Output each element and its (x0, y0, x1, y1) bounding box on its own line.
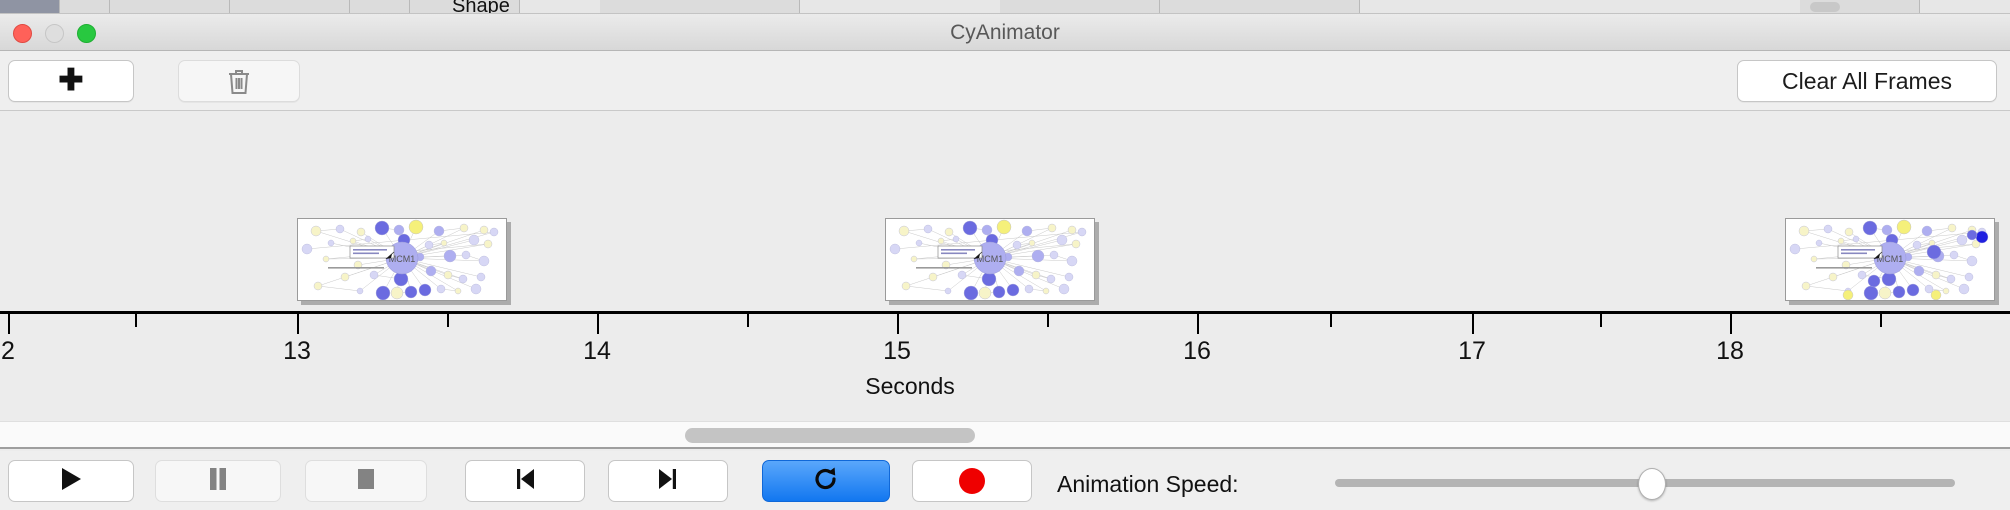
plus-icon: ✚ (58, 66, 83, 96)
cyanimator-window: Shape CyAnimator ✚ Clear All Frames (0, 0, 2010, 510)
clear-all-frames-button[interactable]: Clear All Frames (1737, 60, 1997, 102)
axis-tick-minor (1880, 314, 1882, 327)
timeline-scrollbar[interactable] (0, 421, 2010, 449)
animation-speed-thumb[interactable] (1638, 468, 1666, 500)
stop-button[interactable] (305, 460, 427, 502)
skip-back-icon (513, 466, 537, 496)
loop-icon (812, 465, 840, 497)
axis-tick-minor (135, 314, 137, 327)
bg-scroll-nub (1810, 2, 1840, 12)
background-shape-label: Shape (452, 0, 510, 14)
record-icon (959, 468, 985, 494)
time-axis: 2131415161718 Seconds (0, 311, 2010, 421)
timeline-frame-thumbnail[interactable]: MCM1 (1785, 218, 1995, 301)
trash-icon (227, 68, 251, 95)
delete-frame-button[interactable] (178, 60, 300, 102)
axis-tick-label: 15 (883, 337, 911, 366)
timeline-frame-thumbnail[interactable]: MCM1 (297, 218, 507, 301)
axis-tick-minor (1330, 314, 1332, 327)
axis-tick-major (897, 314, 899, 334)
axis-tick-minor (1047, 314, 1049, 327)
timeline-frame-thumbnail[interactable]: MCM1 (885, 218, 1095, 301)
axis-tick-minor (447, 314, 449, 327)
axis-tick-major (297, 314, 299, 334)
skip-forward-icon (656, 466, 680, 496)
toolbar: ✚ Clear All Frames (0, 51, 2010, 111)
bg-segment (60, 0, 110, 14)
skip-end-button[interactable] (608, 460, 728, 502)
axis-tick-major (1197, 314, 1199, 334)
axis-title: Seconds (865, 373, 955, 400)
bg-segment (230, 0, 350, 14)
axis-tick-major (8, 314, 10, 334)
axis-tick-label: 16 (1183, 337, 1211, 366)
skip-start-button[interactable] (465, 460, 585, 502)
add-frame-button[interactable]: ✚ (8, 60, 134, 102)
frames-strip: MCM1MCM1MCM1 (0, 111, 2010, 311)
axis-tick-label: 18 (1716, 337, 1744, 366)
stop-icon (354, 466, 378, 496)
timeline-panel: MCM1MCM1MCM1 2131415161718 Seconds (0, 111, 2010, 421)
bg-segment (0, 0, 60, 14)
axis-line (0, 311, 2010, 314)
playback-controls: Animation Speed: (0, 451, 2010, 510)
bg-segment (350, 0, 410, 14)
play-icon (59, 466, 83, 496)
bg-segment (110, 0, 230, 14)
bg-segment (600, 0, 800, 14)
loop-button[interactable] (762, 460, 890, 502)
window-title: CyAnimator (0, 21, 2010, 45)
axis-tick-major (1730, 314, 1732, 334)
background-window-strip: Shape (0, 0, 2010, 14)
bg-segment (1000, 0, 1160, 14)
pause-icon (206, 466, 230, 496)
axis-tick-label: 13 (283, 337, 311, 366)
axis-tick-major (597, 314, 599, 334)
axis-tick-major (1472, 314, 1474, 334)
axis-tick-minor (1600, 314, 1602, 327)
record-button[interactable] (912, 460, 1032, 502)
pause-button[interactable] (155, 460, 281, 502)
bg-segment (1160, 0, 1360, 14)
titlebar: CyAnimator (0, 14, 2010, 51)
axis-tick-label: 17 (1458, 337, 1486, 366)
axis-tick-label: 2 (1, 337, 15, 366)
animation-speed-label: Animation Speed: (1057, 471, 1239, 498)
axis-tick-minor (747, 314, 749, 327)
play-button[interactable] (8, 460, 134, 502)
scrollbar-thumb[interactable] (685, 428, 975, 443)
axis-tick-label: 14 (583, 337, 611, 366)
